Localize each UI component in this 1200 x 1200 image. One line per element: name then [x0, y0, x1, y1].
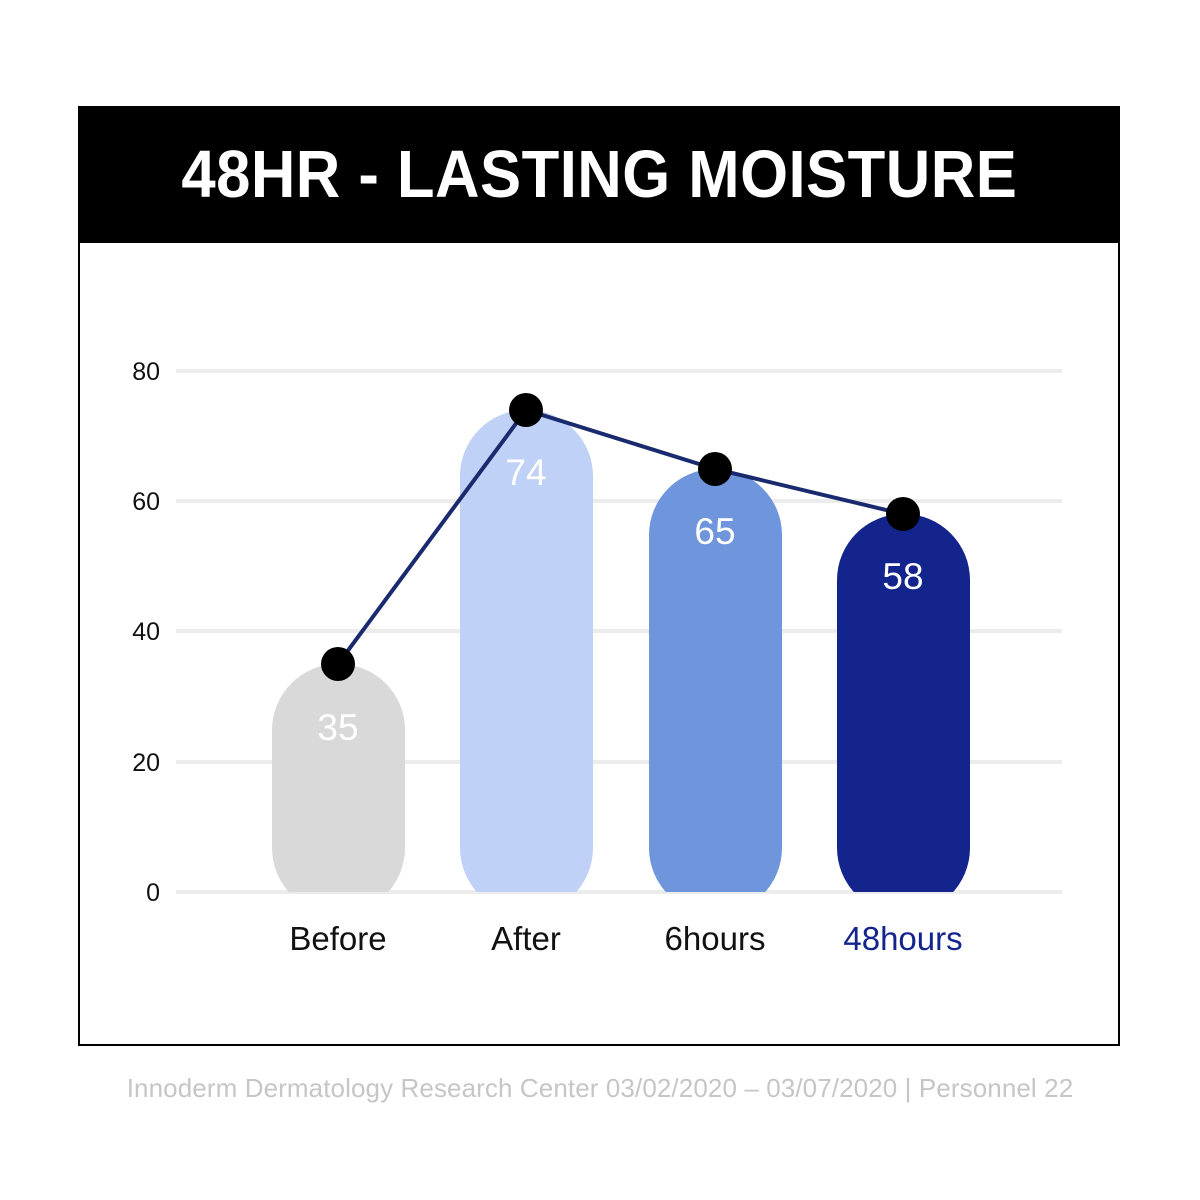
- y-axis-ticks: 0 20 40 60 80: [132, 358, 160, 907]
- x-tick-label-48hours[interactable]: 48hours: [843, 920, 962, 957]
- moisture-bar-chart: 0 20 40 60 80: [80, 243, 1122, 1046]
- footer-caption: Innoderm Dermatology Research Center 03/…: [0, 1073, 1200, 1104]
- x-tick-label-before[interactable]: Before: [289, 920, 386, 957]
- y-tick-label: 60: [132, 488, 160, 516]
- marker-48hours[interactable]: [886, 497, 920, 531]
- bars: [272, 410, 970, 914]
- marker-6hours[interactable]: [698, 452, 732, 486]
- bar-before[interactable]: [272, 664, 405, 914]
- marker-after[interactable]: [509, 393, 543, 427]
- y-tick-label: 0: [146, 879, 160, 907]
- page-title: 48HR - LASTING MOISTURE: [181, 141, 1017, 208]
- y-tick-label: 80: [132, 358, 160, 386]
- bar-value-label-6hours: 65: [694, 511, 735, 552]
- trend-markers: [321, 393, 920, 681]
- title-band: 48HR - LASTING MOISTURE: [78, 106, 1120, 243]
- bar-value-label-48hours: 58: [882, 556, 923, 597]
- y-tick-label: 20: [132, 749, 160, 777]
- x-tick-label-6hours[interactable]: 6hours: [665, 920, 766, 957]
- chart-frame: 0 20 40 60 80: [78, 243, 1120, 1046]
- x-tick-label-after[interactable]: After: [491, 920, 561, 957]
- marker-before[interactable]: [321, 647, 355, 681]
- trend-line: [338, 410, 903, 664]
- bar-value-label-before: 35: [317, 707, 358, 748]
- y-tick-label: 40: [132, 618, 160, 646]
- bar-value-label-after: 74: [505, 452, 546, 493]
- x-axis-ticks: Before After 6hours 48hours: [289, 920, 962, 957]
- infographic-card: 48HR - LASTING MOISTURE 0 20: [0, 0, 1200, 1200]
